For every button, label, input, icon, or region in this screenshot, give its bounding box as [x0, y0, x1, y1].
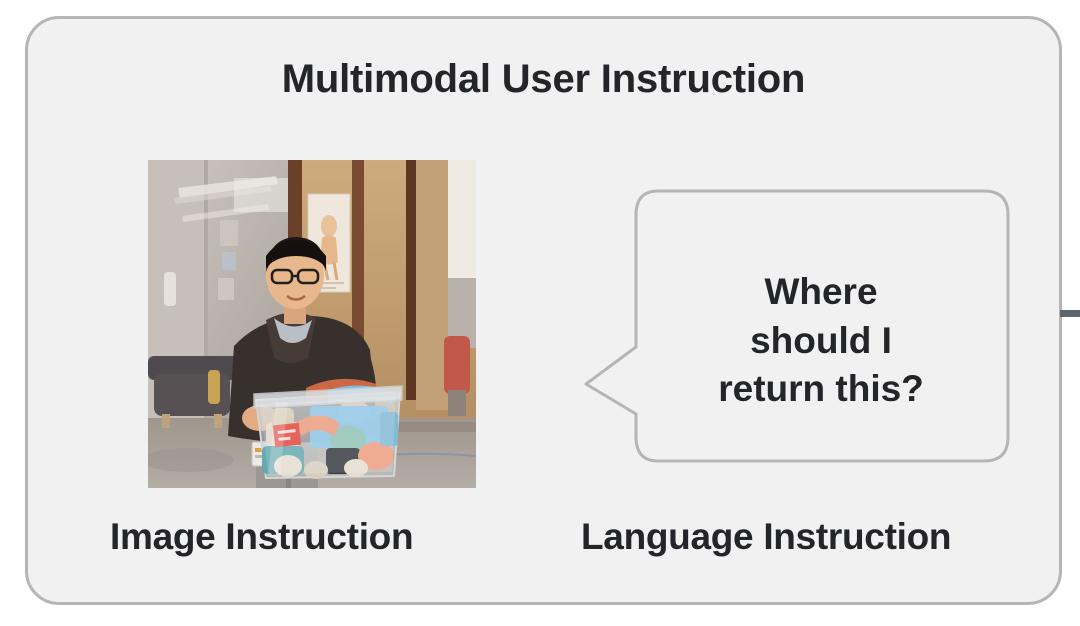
photo-illustration: [148, 160, 476, 488]
speech-bubble-text: Where should I return this?: [636, 206, 1006, 476]
language-instruction-caption: Language Instruction: [581, 516, 951, 558]
speech-bubble: Where should I return this?: [576, 184, 1016, 474]
image-instruction-caption: Image Instruction: [110, 516, 413, 558]
multimodal-user-instruction-panel: Multimodal User Instruction: [25, 16, 1062, 605]
image-instruction-photo: [148, 160, 476, 488]
right-edge-connector: [1060, 310, 1080, 317]
page-title: Multimodal User Instruction: [28, 57, 1059, 102]
